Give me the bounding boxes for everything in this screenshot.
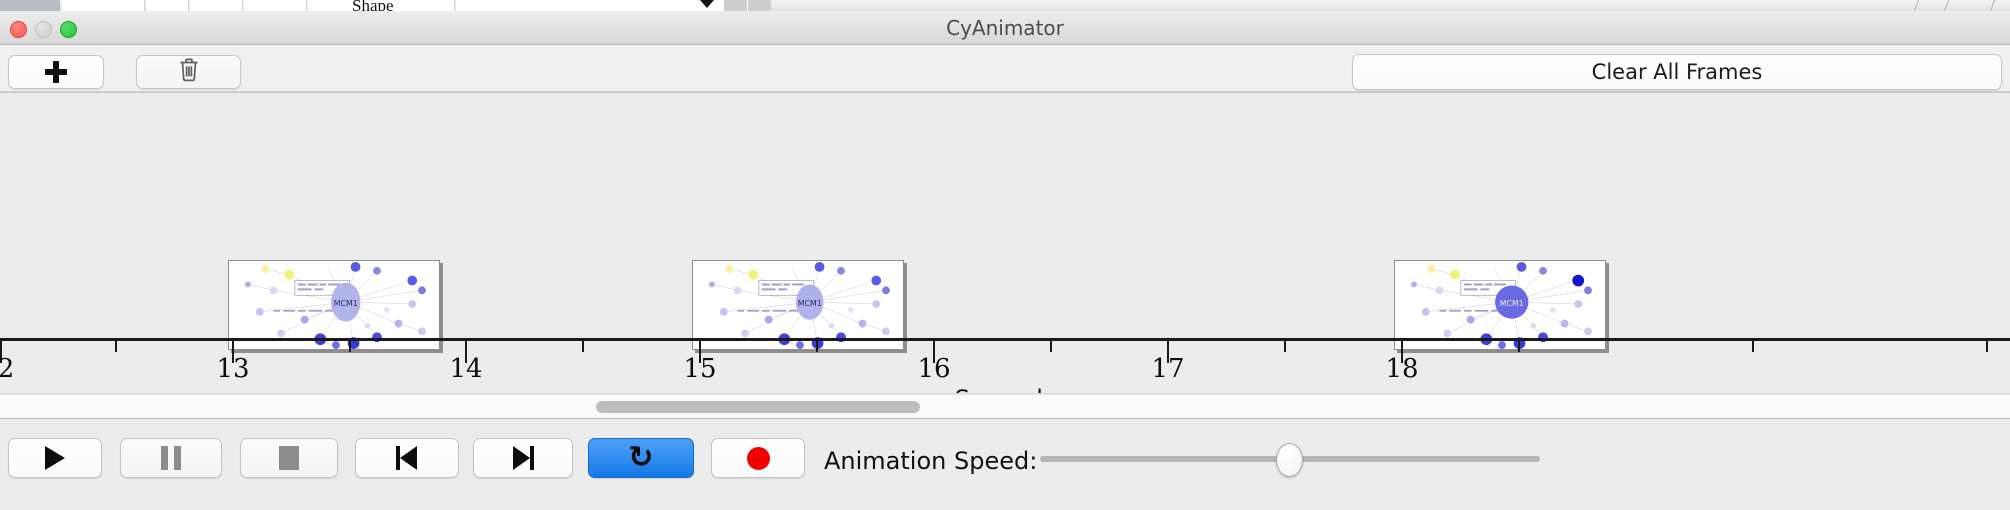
prev-frame-button[interactable] <box>355 438 459 478</box>
play-icon <box>45 446 65 470</box>
toolbar: Clear All Frames <box>0 45 2010 92</box>
trash-icon <box>177 57 201 88</box>
background-window-strip: Shape <box>0 0 2010 11</box>
animation-speed-slider[interactable] <box>1040 456 1540 462</box>
add-frame-button[interactable] <box>8 55 104 89</box>
svg-text:MCM1: MCM1 <box>798 299 822 308</box>
slider-thumb[interactable] <box>1276 443 1303 477</box>
clear-all-frames-label: Clear All Frames <box>1592 60 1763 84</box>
stop-button[interactable] <box>240 438 338 478</box>
loop-button[interactable]: ↻ <box>588 438 694 478</box>
svg-text:MCM1: MCM1 <box>1500 299 1524 308</box>
stop-icon <box>279 446 299 470</box>
skip-back-icon <box>395 446 419 470</box>
axis-tick-minor <box>582 341 584 352</box>
plus-icon <box>45 61 67 83</box>
axis-label-18: 18 <box>1385 354 1418 384</box>
frame-thumbnail-1[interactable]: MCM1 <box>228 260 440 350</box>
axis-tick-minor <box>1518 341 1520 352</box>
axis-tick-minor <box>349 341 351 352</box>
frame-thumbnail-2[interactable]: MCM1 <box>692 260 904 350</box>
axis-label-17: 17 <box>1151 354 1184 384</box>
axis-tick-minor <box>115 341 117 352</box>
record-button[interactable] <box>711 438 805 478</box>
timeline-scrollbar[interactable] <box>0 394 2010 419</box>
axis-tick-minor <box>1050 341 1052 352</box>
timeline-panel[interactable]: MCM1 <box>0 92 2010 394</box>
timeline-axis <box>0 338 2010 341</box>
axis-tick-minor <box>1986 341 1988 352</box>
skip-forward-icon <box>511 446 535 470</box>
playback-controls: ↻ Animation Speed: <box>0 420 2010 510</box>
delete-frame-button[interactable] <box>136 55 241 89</box>
clear-all-frames-button[interactable]: Clear All Frames <box>1352 54 2002 90</box>
loop-icon: ↻ <box>628 443 653 473</box>
axis-tick-minor <box>1752 341 1754 352</box>
axis-label-12: 2 <box>0 354 14 384</box>
record-icon <box>747 447 770 470</box>
animation-speed-label: Animation Speed: <box>824 447 1037 475</box>
title-bar: CyAnimator <box>0 11 2010 45</box>
axis-tick-minor <box>816 341 818 352</box>
cyanimator-window: Shape CyAnimator <box>0 0 2010 510</box>
pause-button[interactable] <box>120 438 222 478</box>
svg-text:MCM1: MCM1 <box>334 299 358 308</box>
axis-label-16: 16 <box>917 354 950 384</box>
play-button[interactable] <box>8 438 102 478</box>
axis-title: Seconds <box>0 385 2010 394</box>
pause-icon <box>161 446 181 470</box>
frame-thumbnail-3[interactable]: MCM1 <box>1394 260 1606 350</box>
axis-label-13: 13 <box>216 354 249 384</box>
window-title: CyAnimator <box>0 11 2010 45</box>
next-frame-button[interactable] <box>473 438 573 478</box>
timeline-scrollbar-thumb[interactable] <box>596 401 920 413</box>
axis-label-14: 14 <box>449 354 482 384</box>
background-window-label: Shape <box>352 0 394 11</box>
axis-tick-minor <box>1284 341 1286 352</box>
axis-label-15: 15 <box>683 354 716 384</box>
background-caret-icon <box>700 0 714 8</box>
